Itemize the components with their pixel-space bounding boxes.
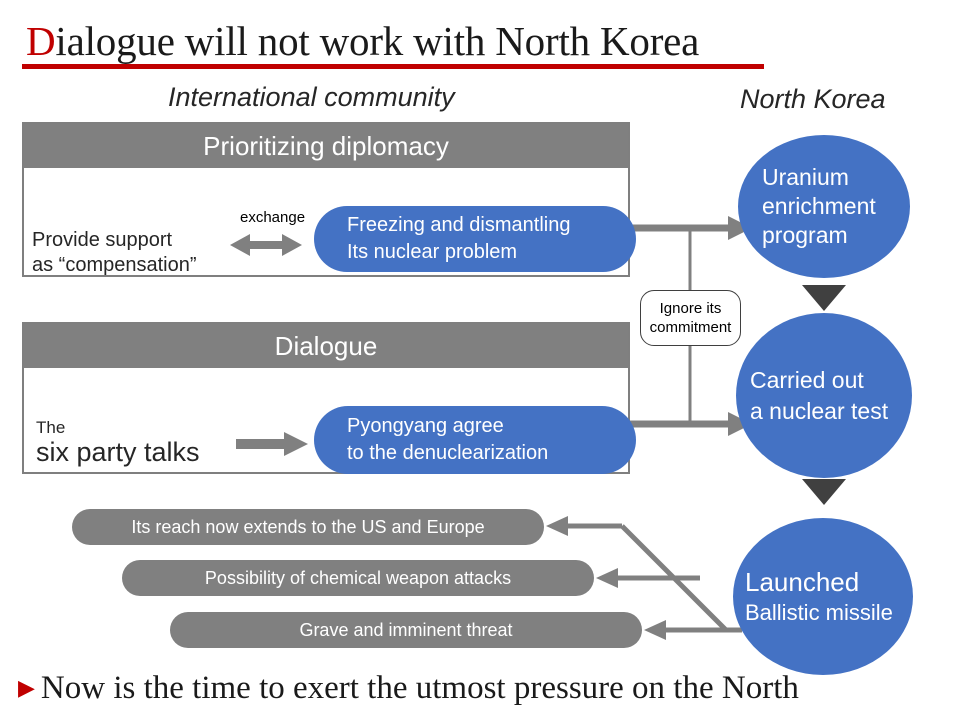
triangle-bullet-icon: ▶ — [18, 677, 35, 699]
arrow-pyongyang-to-nuclear-test — [616, 412, 752, 436]
arrow-to-pill-threat — [644, 620, 742, 640]
title-drop-cap: D — [26, 18, 55, 64]
page-title: Dialogue will not work with North Korea — [26, 18, 699, 64]
arrow-to-pill-reach — [546, 516, 622, 536]
pill-grave-imminent-threat: Grave and imminent threat — [170, 612, 642, 648]
circle-launched-line2: Ballistic missile — [745, 599, 913, 627]
heading-international-community: International community — [168, 82, 455, 113]
circle-launched-ballistic-missile: Launched Ballistic missile — [733, 518, 913, 675]
double-arrow-exchange-icon — [230, 230, 302, 260]
text-six-party-talks: six party talks — [36, 436, 200, 468]
heading-north-korea: North Korea — [740, 84, 886, 115]
pill-its-reach-extends: Its reach now extends to the US and Euro… — [72, 509, 544, 545]
panel-dialogue: Dialogue The six party talks Pyongyang a… — [22, 322, 630, 474]
panel-prioritizing-diplomacy: Prioritizing diplomacy Provide support a… — [22, 122, 630, 277]
panel-body-dialogue: The six party talks Pyongyang agree to t… — [24, 368, 628, 472]
connector-diagonal-spine — [622, 526, 726, 630]
panel-header-diplomacy: Prioritizing diplomacy — [24, 124, 628, 168]
panel-header-dialogue: Dialogue — [24, 324, 628, 368]
callout-ignore-commitment: Ignore its commitment — [640, 290, 741, 346]
label-exchange: exchange — [240, 209, 305, 226]
bottom-statement-text: Now is the time to exert the utmost pres… — [41, 668, 799, 708]
arrow-freezing-to-uranium — [616, 216, 752, 240]
circle-uranium-enrichment-program: Uranium enrichment program — [738, 135, 910, 278]
panel-body-diplomacy: Provide support as “compensation” exchan… — [24, 168, 628, 275]
text-the: The — [36, 418, 65, 438]
down-triangle-icon-1 — [802, 285, 846, 311]
right-arrow-sixparty-icon — [236, 430, 308, 458]
title-rest: ialogue will not work with North Korea — [55, 18, 699, 64]
bottom-statement: ▶ Now is the time to exert the utmost pr… — [18, 668, 799, 708]
title-underline-rule — [22, 64, 764, 69]
pill-chemical-weapon-attacks: Possibility of chemical weapon attacks — [122, 560, 594, 596]
blue-box-freezing-dismantling: Freezing and dismantling Its nuclear pro… — [314, 206, 636, 272]
blue-box-pyongyang-agree: Pyongyang agree to the denuclearization — [314, 406, 636, 474]
slide-canvas: Dialogue will not work with North Korea … — [0, 0, 960, 720]
circle-launched-line1: Launched — [745, 566, 913, 599]
text-provide-support: Provide support as “compensation” — [32, 228, 197, 278]
down-triangle-icon-2 — [802, 479, 846, 505]
arrow-to-pill-chem — [596, 568, 700, 588]
circle-carried-out-nuclear-test: Carried out a nuclear test — [736, 313, 912, 478]
